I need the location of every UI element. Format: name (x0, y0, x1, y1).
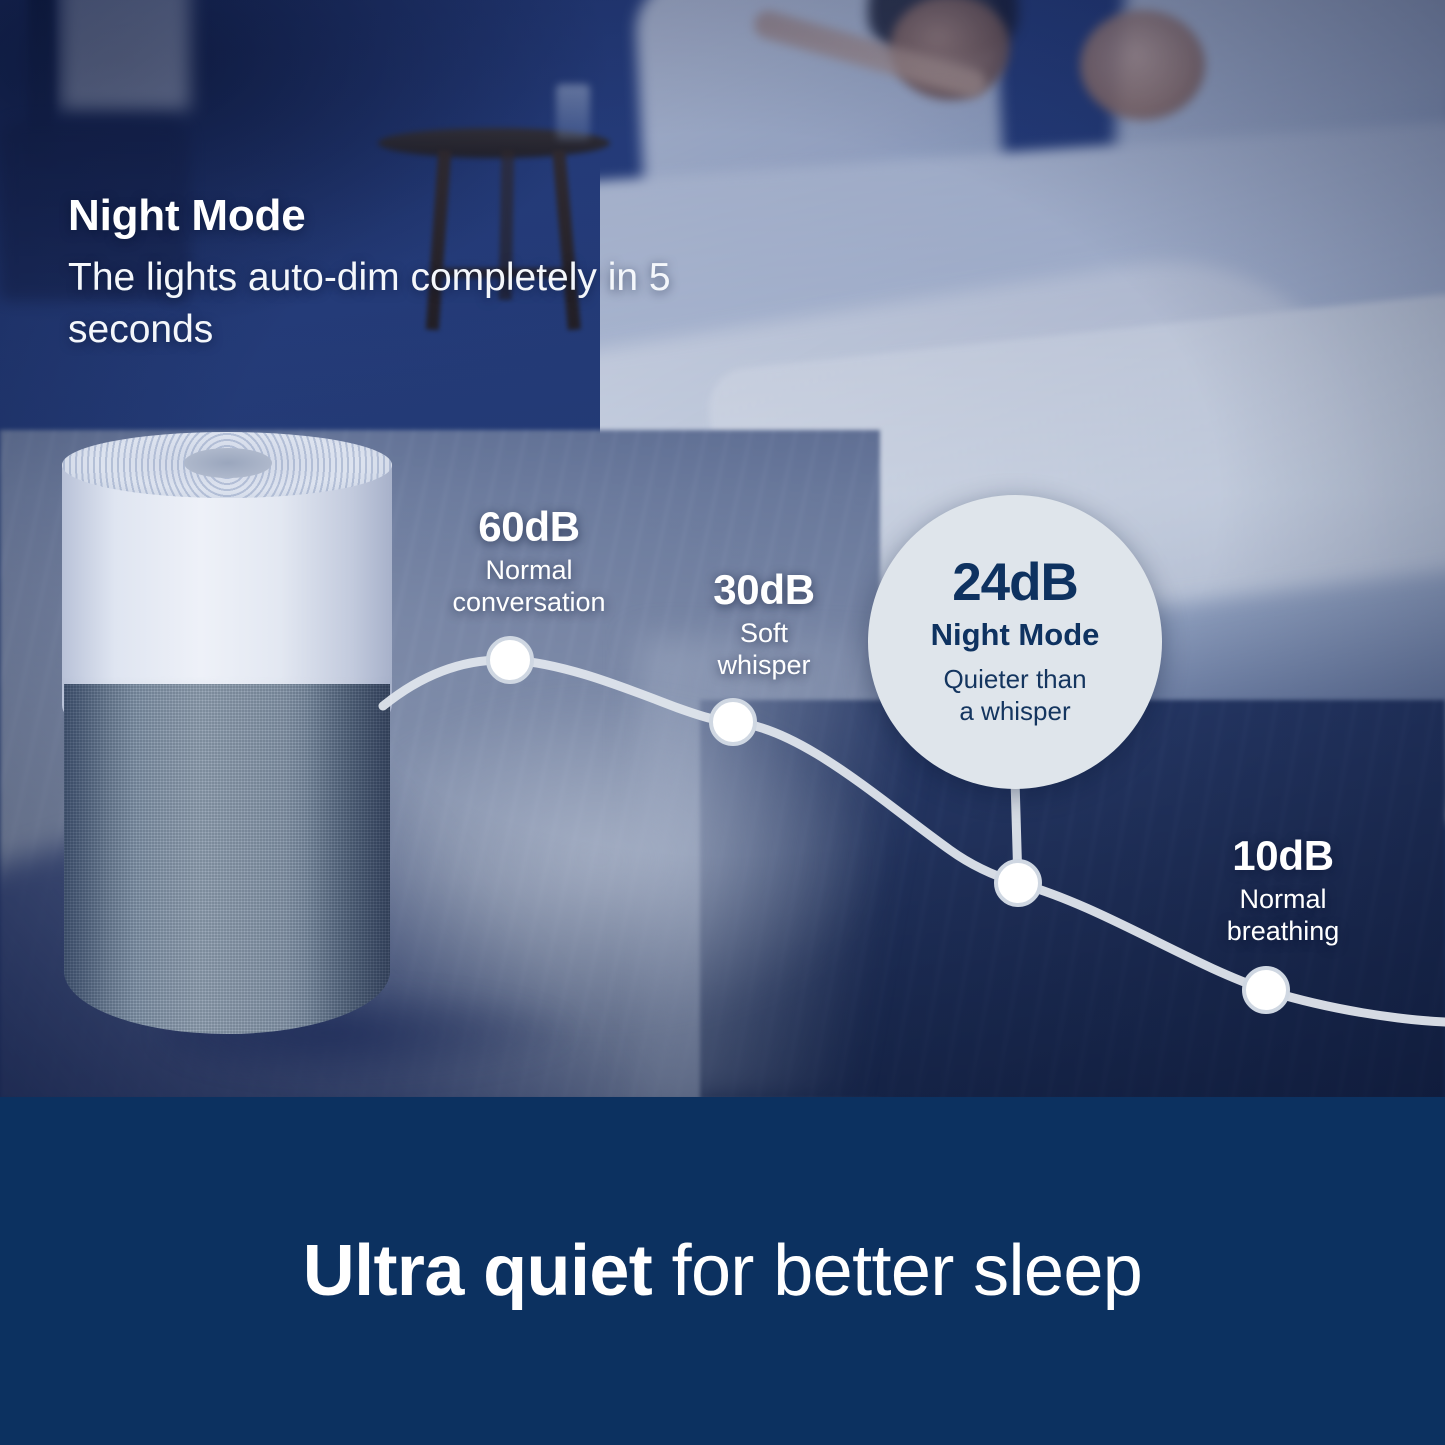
db-description: Normal breathing (1168, 884, 1398, 948)
callout-mode-label: Night Mode (931, 619, 1100, 650)
curve-dot-10db (1244, 968, 1288, 1012)
product-feature-poster: Night Mode The lights auto-dim completel… (0, 0, 1445, 1445)
bottom-banner: Ultra quiet for better sleep (0, 1097, 1445, 1445)
banner-tagline-rest: for better sleep (652, 1231, 1142, 1311)
db-desc-line2: breathing (1227, 916, 1340, 946)
banner-tagline: Ultra quiet for better sleep (303, 1230, 1143, 1312)
page-title: Night Mode (68, 192, 688, 240)
db-label-30: 30dB Soft whisper (664, 568, 864, 682)
callout-description: Quieter than a whisper (943, 664, 1086, 727)
db-desc-line2: conversation (452, 587, 605, 617)
db-description: Normal conversation (404, 555, 654, 619)
curve-dot-60db (488, 638, 532, 682)
db-desc-line1: Normal (485, 555, 572, 585)
db-value: 10dB (1168, 834, 1398, 878)
db-label-10: 10dB Normal breathing (1168, 834, 1398, 948)
headline-block: Night Mode The lights auto-dim completel… (68, 192, 688, 356)
db-value: 60dB (404, 505, 654, 549)
callout-desc-line2: a whisper (959, 696, 1070, 726)
db-desc-line1: Soft (740, 618, 788, 648)
db-value: 30dB (664, 568, 864, 612)
bedroom-scene-photo: Night Mode The lights auto-dim completel… (0, 0, 1445, 1097)
db-desc-line1: Normal (1239, 884, 1326, 914)
curve-dot-30db (711, 700, 755, 744)
page-subtitle: The lights auto-dim completely in 5 seco… (68, 252, 688, 356)
db-desc-line2: whisper (717, 650, 810, 680)
db-description: Soft whisper (664, 618, 864, 682)
night-mode-callout: 24dB Night Mode Quieter than a whisper (868, 495, 1162, 789)
callout-desc-line1: Quieter than (943, 664, 1086, 694)
curve-dot-24db (996, 861, 1040, 905)
db-label-60: 60dB Normal conversation (404, 505, 654, 619)
banner-tagline-strong: Ultra quiet (303, 1231, 652, 1311)
callout-db-value: 24dB (952, 556, 1078, 609)
